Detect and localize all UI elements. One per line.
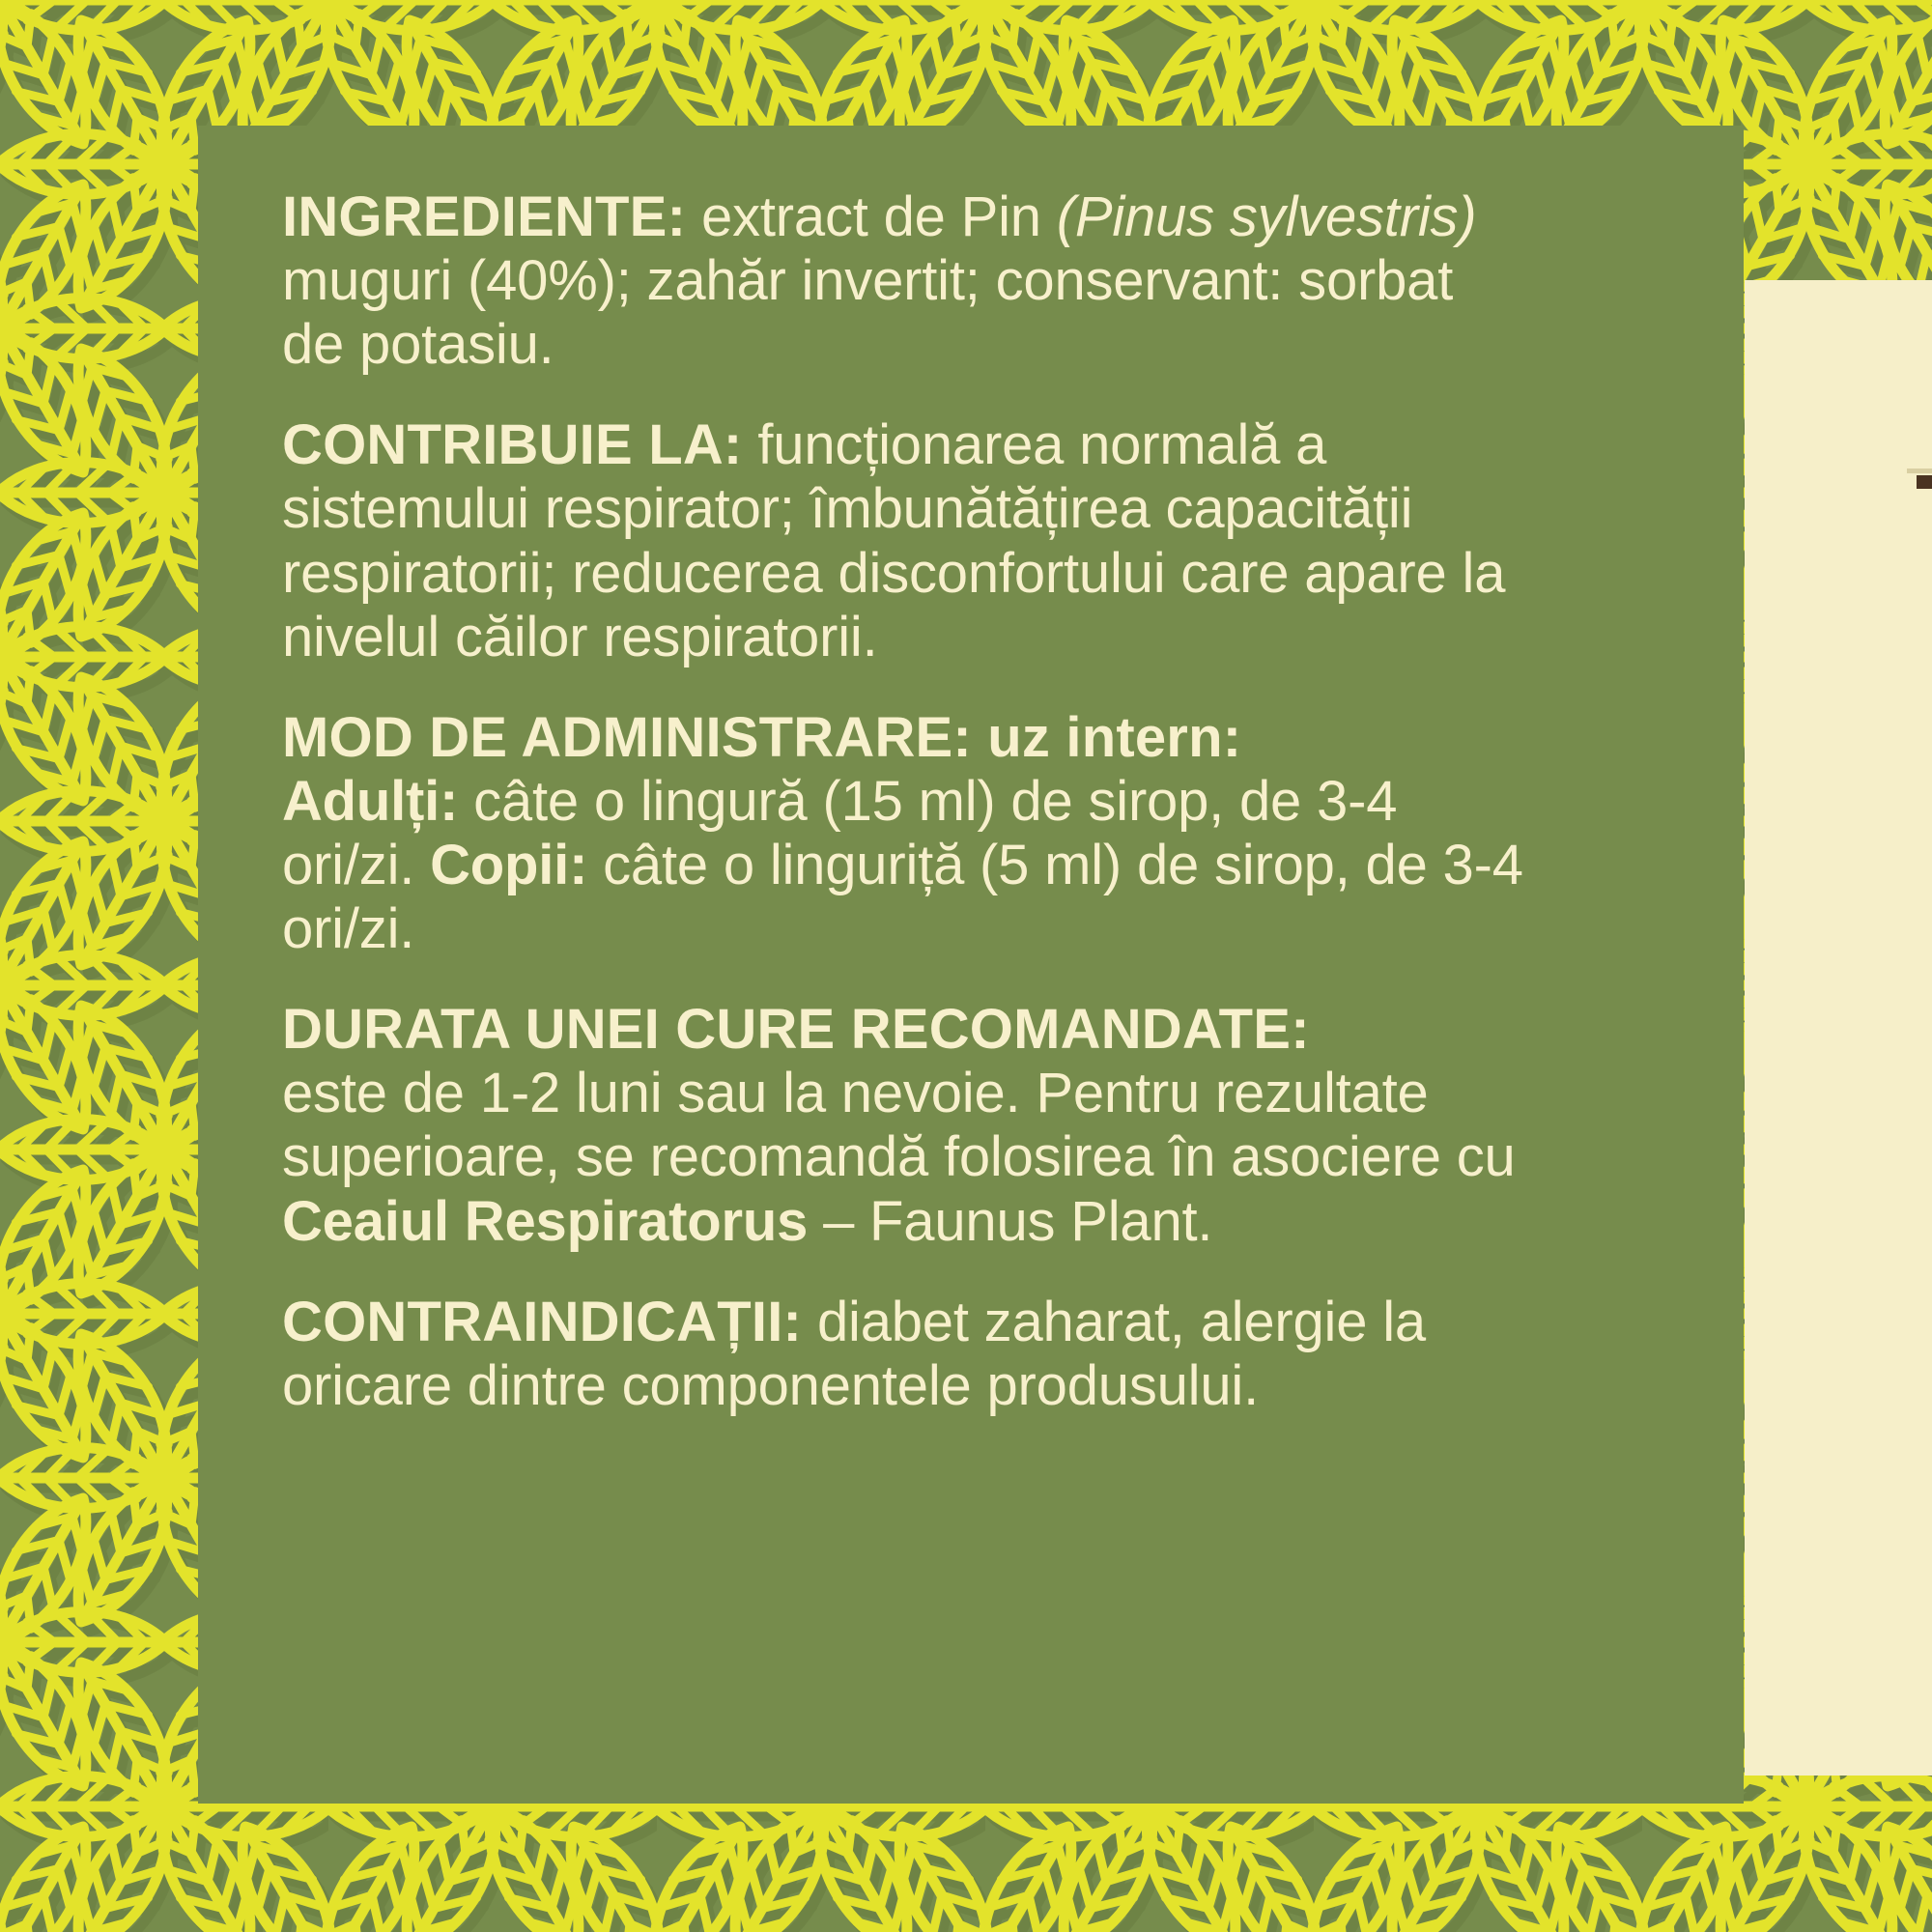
section-contraindicatii: CONTRAINDICAȚII: diabet zaharat, alergie… bbox=[282, 1291, 1528, 1418]
section-durata-cure-body-1: este de 1-2 luni sau la nevoie. Pentru r… bbox=[282, 1062, 1516, 1188]
side-panel-cream bbox=[1745, 280, 1932, 1776]
dosage-children-label: Copii: bbox=[430, 834, 587, 896]
label-text-body: INGREDIENTE: extract de Pin (Pinus sylve… bbox=[282, 185, 1528, 1418]
section-durata-cure-body-2: – Faunus Plant. bbox=[808, 1190, 1212, 1253]
section-durata-cure-heading: DURATA UNEI CURE RECOMANDATE: bbox=[282, 998, 1310, 1061]
section-contribuie-la: CONTRIBUIE LA: funcționarea normală a si… bbox=[282, 413, 1528, 668]
side-panel-mark-icon bbox=[1917, 475, 1932, 489]
product-label-root: INGREDIENTE: extract de Pin (Pinus sylve… bbox=[0, 0, 1932, 1932]
section-contraindicatii-heading: CONTRAINDICAȚII: bbox=[282, 1291, 802, 1353]
section-ingrediente-body-1: extract de Pin bbox=[686, 185, 1057, 248]
section-contribuie-la-heading: CONTRIBUIE LA: bbox=[282, 413, 742, 476]
section-ingrediente-latin-name: (Pinus sylvestris) bbox=[1057, 185, 1477, 248]
section-ingrediente: INGREDIENTE: extract de Pin (Pinus sylve… bbox=[282, 185, 1528, 377]
section-ingrediente-heading: INGREDIENTE: bbox=[282, 185, 686, 248]
section-ingrediente-body-2: muguri (40%); zahăr invertit; conservant… bbox=[282, 249, 1453, 376]
dosage-adults-label: Adulți: bbox=[282, 770, 458, 833]
related-product-name: Ceaiul Respiratorus bbox=[282, 1190, 808, 1253]
section-mod-de-administrare-heading: MOD DE ADMINISTRARE: uz intern: bbox=[282, 706, 1241, 769]
section-mod-de-administrare: MOD DE ADMINISTRARE: uz intern:Adulți: c… bbox=[282, 706, 1528, 961]
section-durata-cure: DURATA UNEI CURE RECOMANDATE: este de 1-… bbox=[282, 998, 1528, 1253]
